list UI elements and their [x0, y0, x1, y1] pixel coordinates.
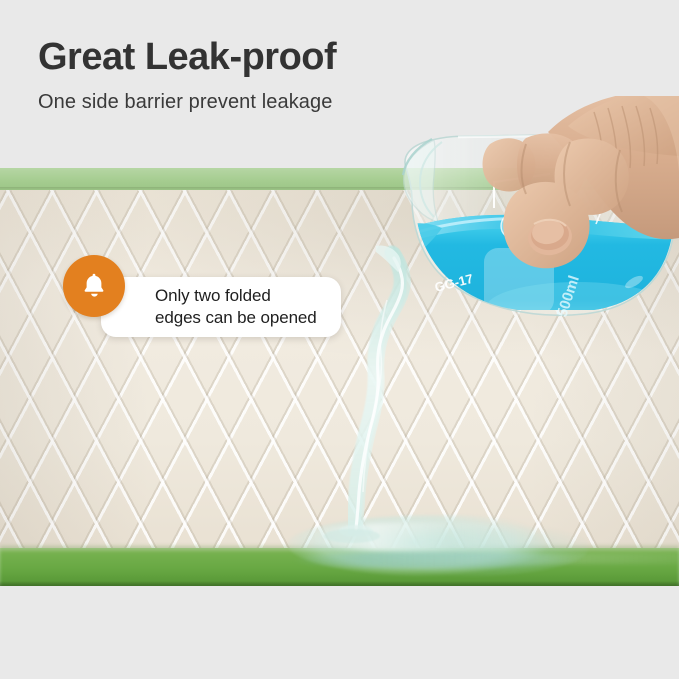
page-subtitle: One side barrier prevent leakage: [38, 91, 638, 114]
product-feature-image: Great Leak-proof One side barrier preven…: [0, 0, 679, 679]
callout-line-2: edges can be opened: [155, 308, 317, 327]
callout-line-1: Only two folded: [155, 286, 271, 305]
page-title: Great Leak-proof: [38, 38, 638, 78]
header-block: Great Leak-proof One side barrier preven…: [38, 38, 638, 114]
bell-icon: [79, 271, 109, 301]
beaker-and-hand: 500 APPROX 200 GG-17 500ml ⊞: [398, 96, 679, 346]
callout-box: Only two folded edges can be opened: [101, 277, 341, 337]
callout-text: Only two folded edges can be opened: [101, 285, 317, 329]
water-puddle-leading-edge: [292, 552, 582, 568]
water-puddle-sheen: [300, 522, 550, 552]
callout-badge: [63, 255, 125, 317]
